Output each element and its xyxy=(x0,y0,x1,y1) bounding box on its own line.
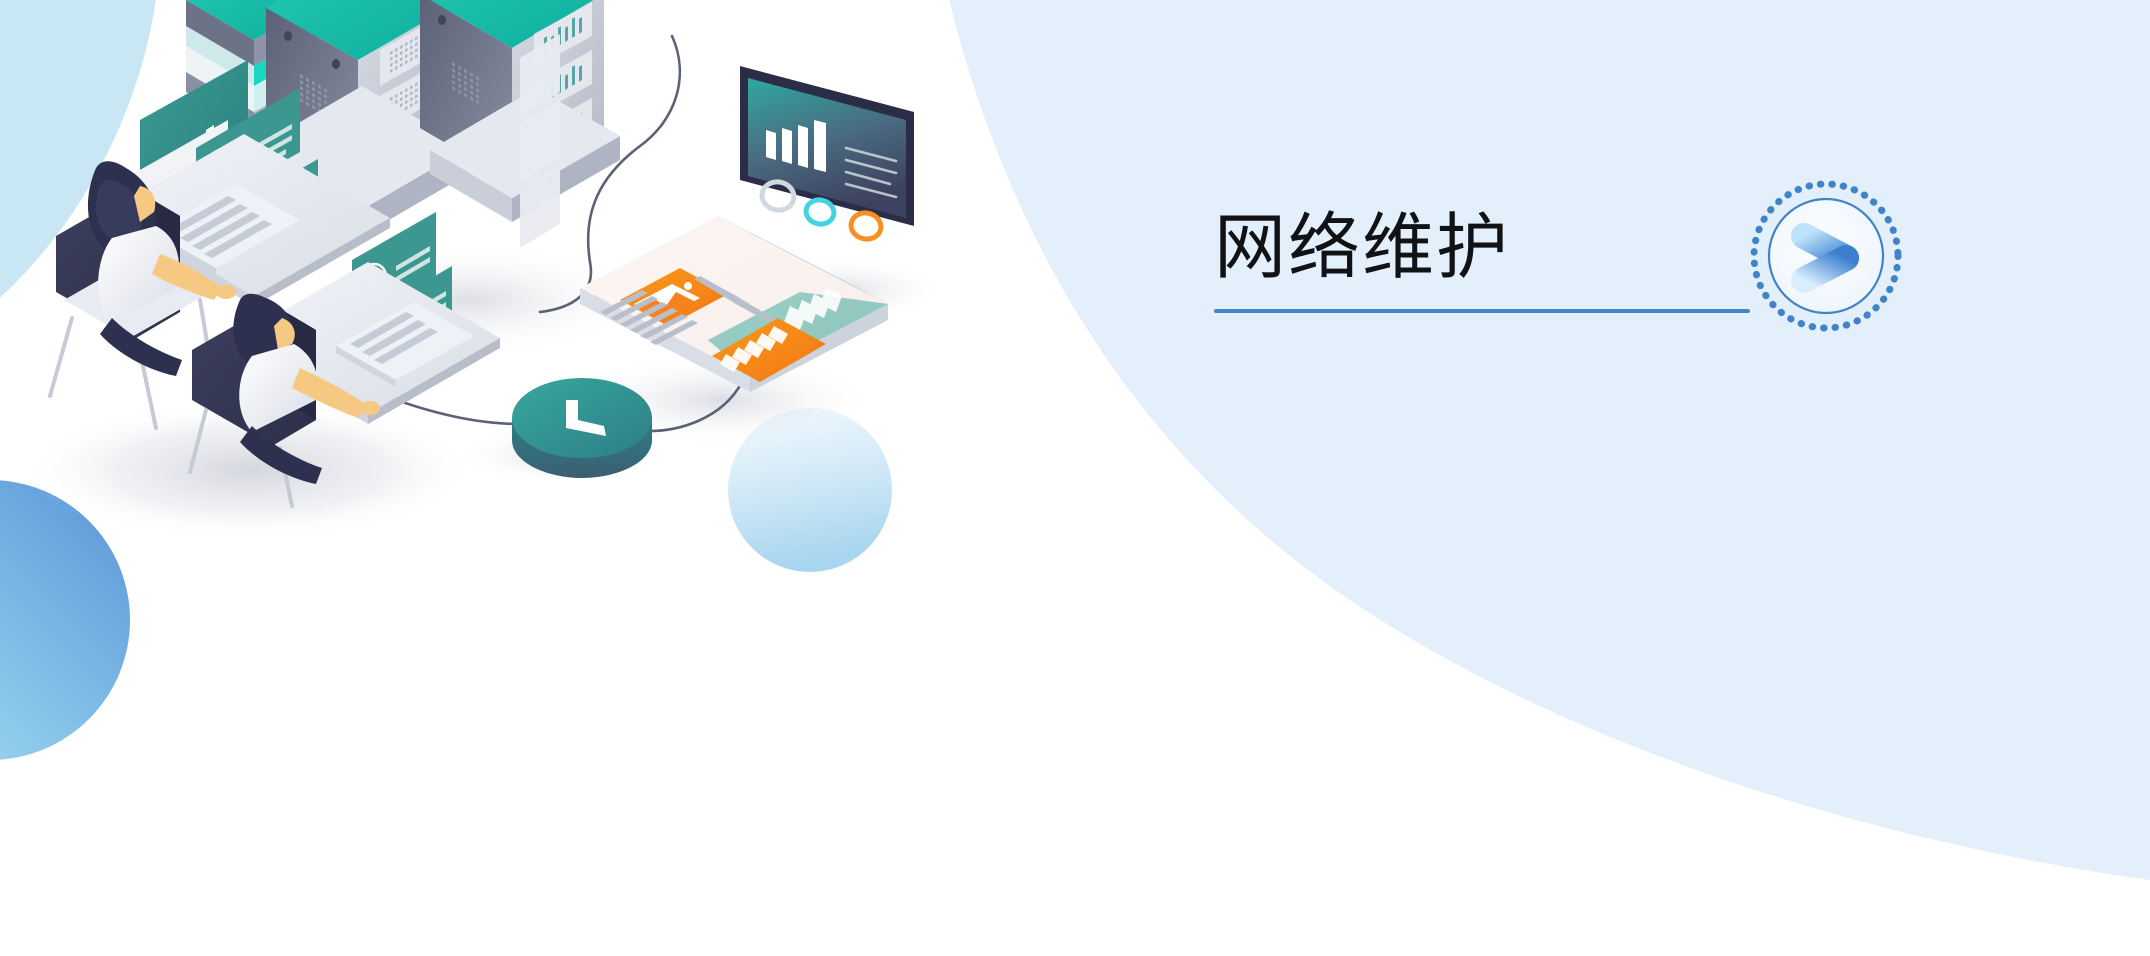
headline-block: 网络维护 xyxy=(1214,205,1774,313)
clock-disc xyxy=(512,378,652,478)
network-maintenance-illustration xyxy=(0,0,2150,956)
double-chevron-right-icon[interactable] xyxy=(1748,178,1904,334)
banner-canvas: 网络维护 xyxy=(0,0,2150,956)
arrow-badge[interactable] xyxy=(1748,178,1904,334)
tablet-analytics xyxy=(718,66,930,242)
page-title: 网络维护 xyxy=(1214,205,1774,291)
server-panel-strip xyxy=(520,34,560,248)
title-underline xyxy=(1214,309,1750,313)
